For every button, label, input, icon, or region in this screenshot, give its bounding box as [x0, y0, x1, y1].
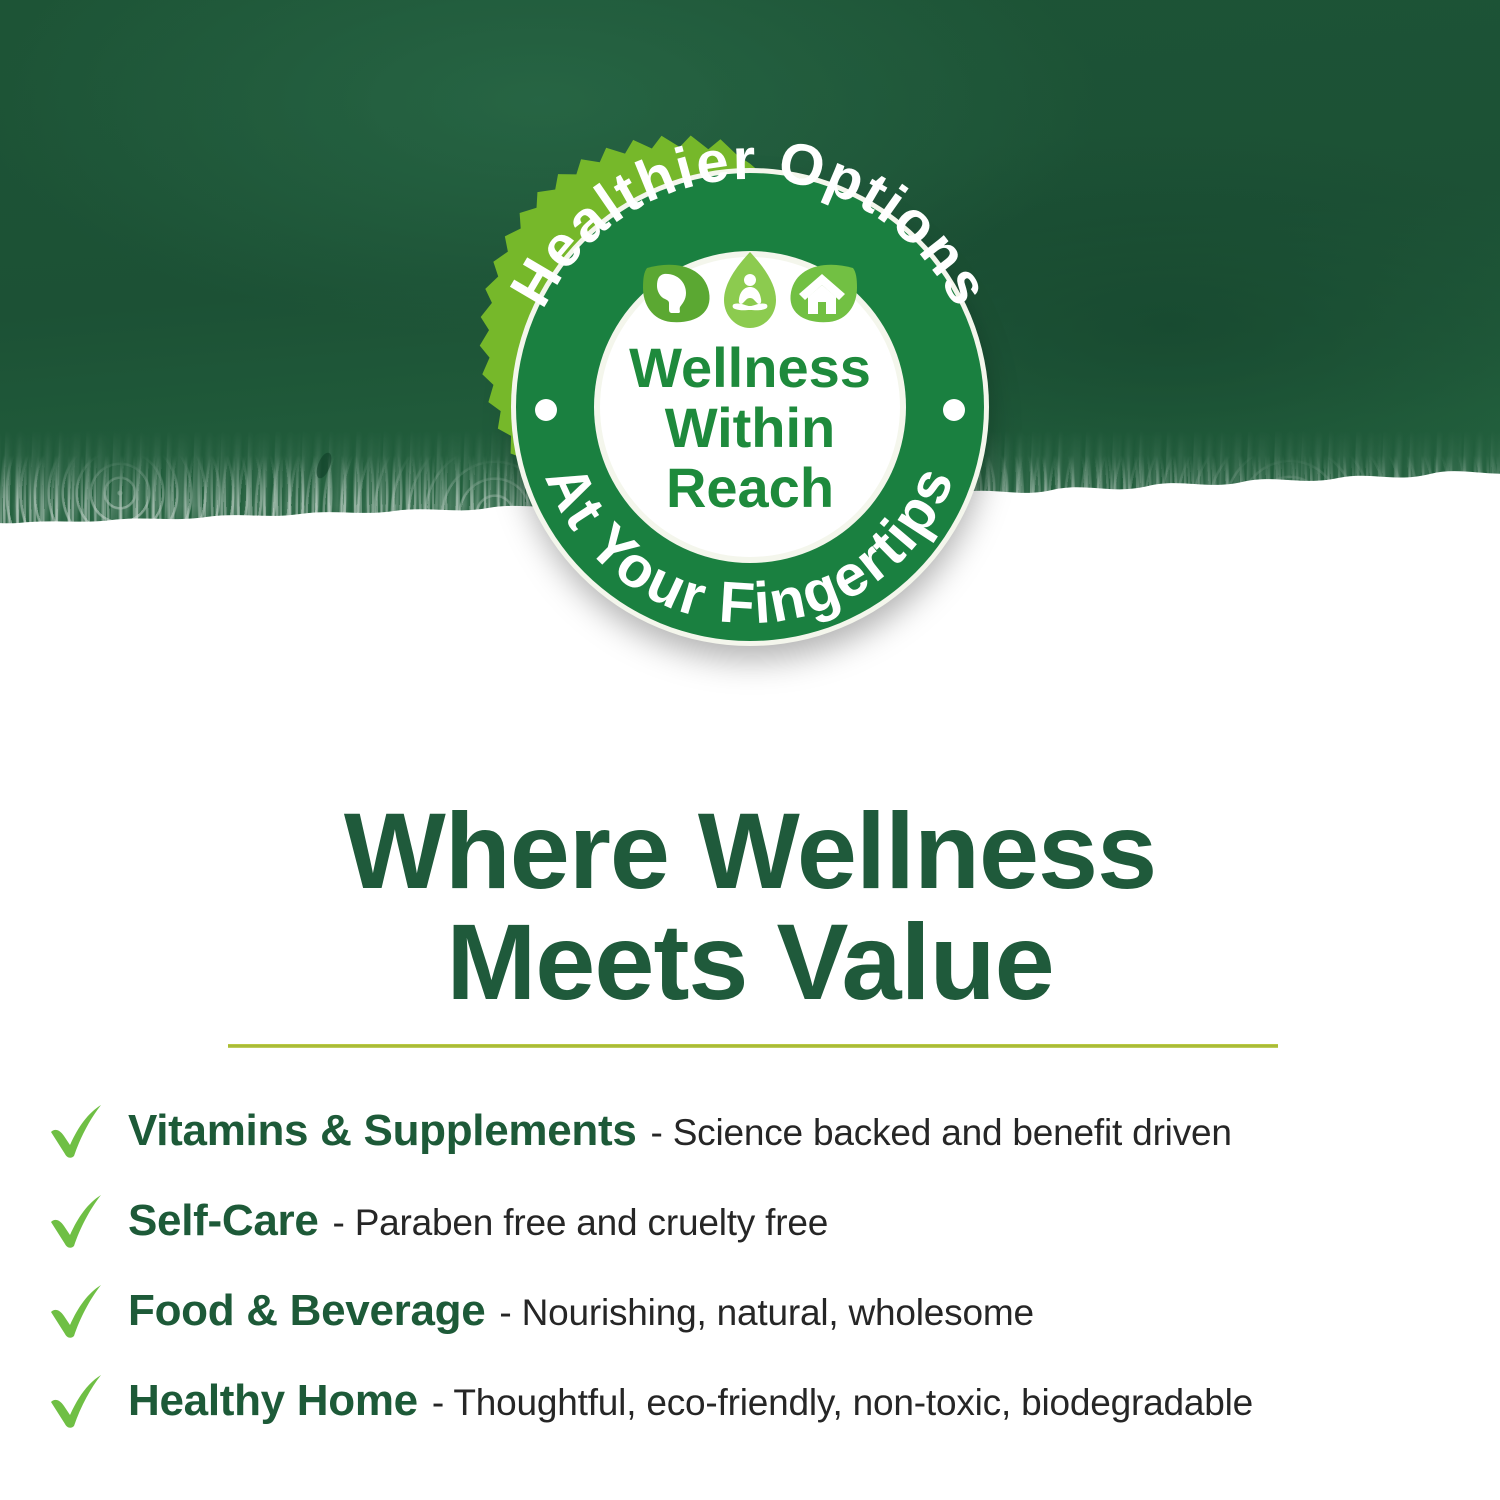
feature-text: Food & Beverage - Nourishing, natural, w… [128, 1286, 1034, 1336]
feature-list: Vitamins & Supplements - Science backed … [46, 1086, 1476, 1446]
list-item: Vitamins & Supplements - Science backed … [46, 1086, 1476, 1176]
list-item: Healthy Home - Thoughtful, eco-friendly,… [46, 1356, 1476, 1446]
page-title: Where Wellness Meets Value [0, 795, 1500, 1017]
badge-graphic: Healthier Options At Your Fingertips [455, 120, 1045, 682]
headline-line-1: Where Wellness [344, 790, 1156, 911]
feature-title: Healthy Home [128, 1376, 418, 1426]
check-icon [46, 1370, 108, 1432]
badge-dot-right [943, 399, 965, 421]
headline-line-2: Meets Value [0, 906, 1500, 1017]
title-divider [228, 1044, 1278, 1048]
wellness-badge: Healthier Options At Your Fingertips [455, 120, 1045, 682]
list-item: Self-Care - Paraben free and cruelty fre… [46, 1176, 1476, 1266]
feature-text: Self-Care - Paraben free and cruelty fre… [128, 1196, 828, 1246]
feature-description: - Paraben free and cruelty free [333, 1202, 829, 1244]
feature-text: Vitamins & Supplements - Science backed … [128, 1106, 1232, 1156]
badge-center-line-3: Reach [666, 456, 834, 519]
check-icon [46, 1100, 108, 1162]
badge-dot-left [535, 399, 557, 421]
feature-text: Healthy Home - Thoughtful, eco-friendly,… [128, 1376, 1253, 1426]
feature-description: - Thoughtful, eco-friendly, non-toxic, b… [432, 1382, 1253, 1424]
feature-title: Self-Care [128, 1196, 319, 1246]
feature-description: - Science backed and benefit driven [651, 1112, 1232, 1154]
badge-center-line-2: Within [665, 396, 836, 459]
badge-center-line-1: Wellness [629, 336, 871, 399]
feature-description: - Nourishing, natural, wholesome [499, 1292, 1033, 1334]
check-icon [46, 1280, 108, 1342]
promo-page: Healthier Options At Your Fingertips [0, 0, 1500, 1500]
check-icon [46, 1190, 108, 1252]
list-item: Food & Beverage - Nourishing, natural, w… [46, 1266, 1476, 1356]
feature-title: Vitamins & Supplements [128, 1106, 637, 1156]
feature-title: Food & Beverage [128, 1286, 485, 1336]
